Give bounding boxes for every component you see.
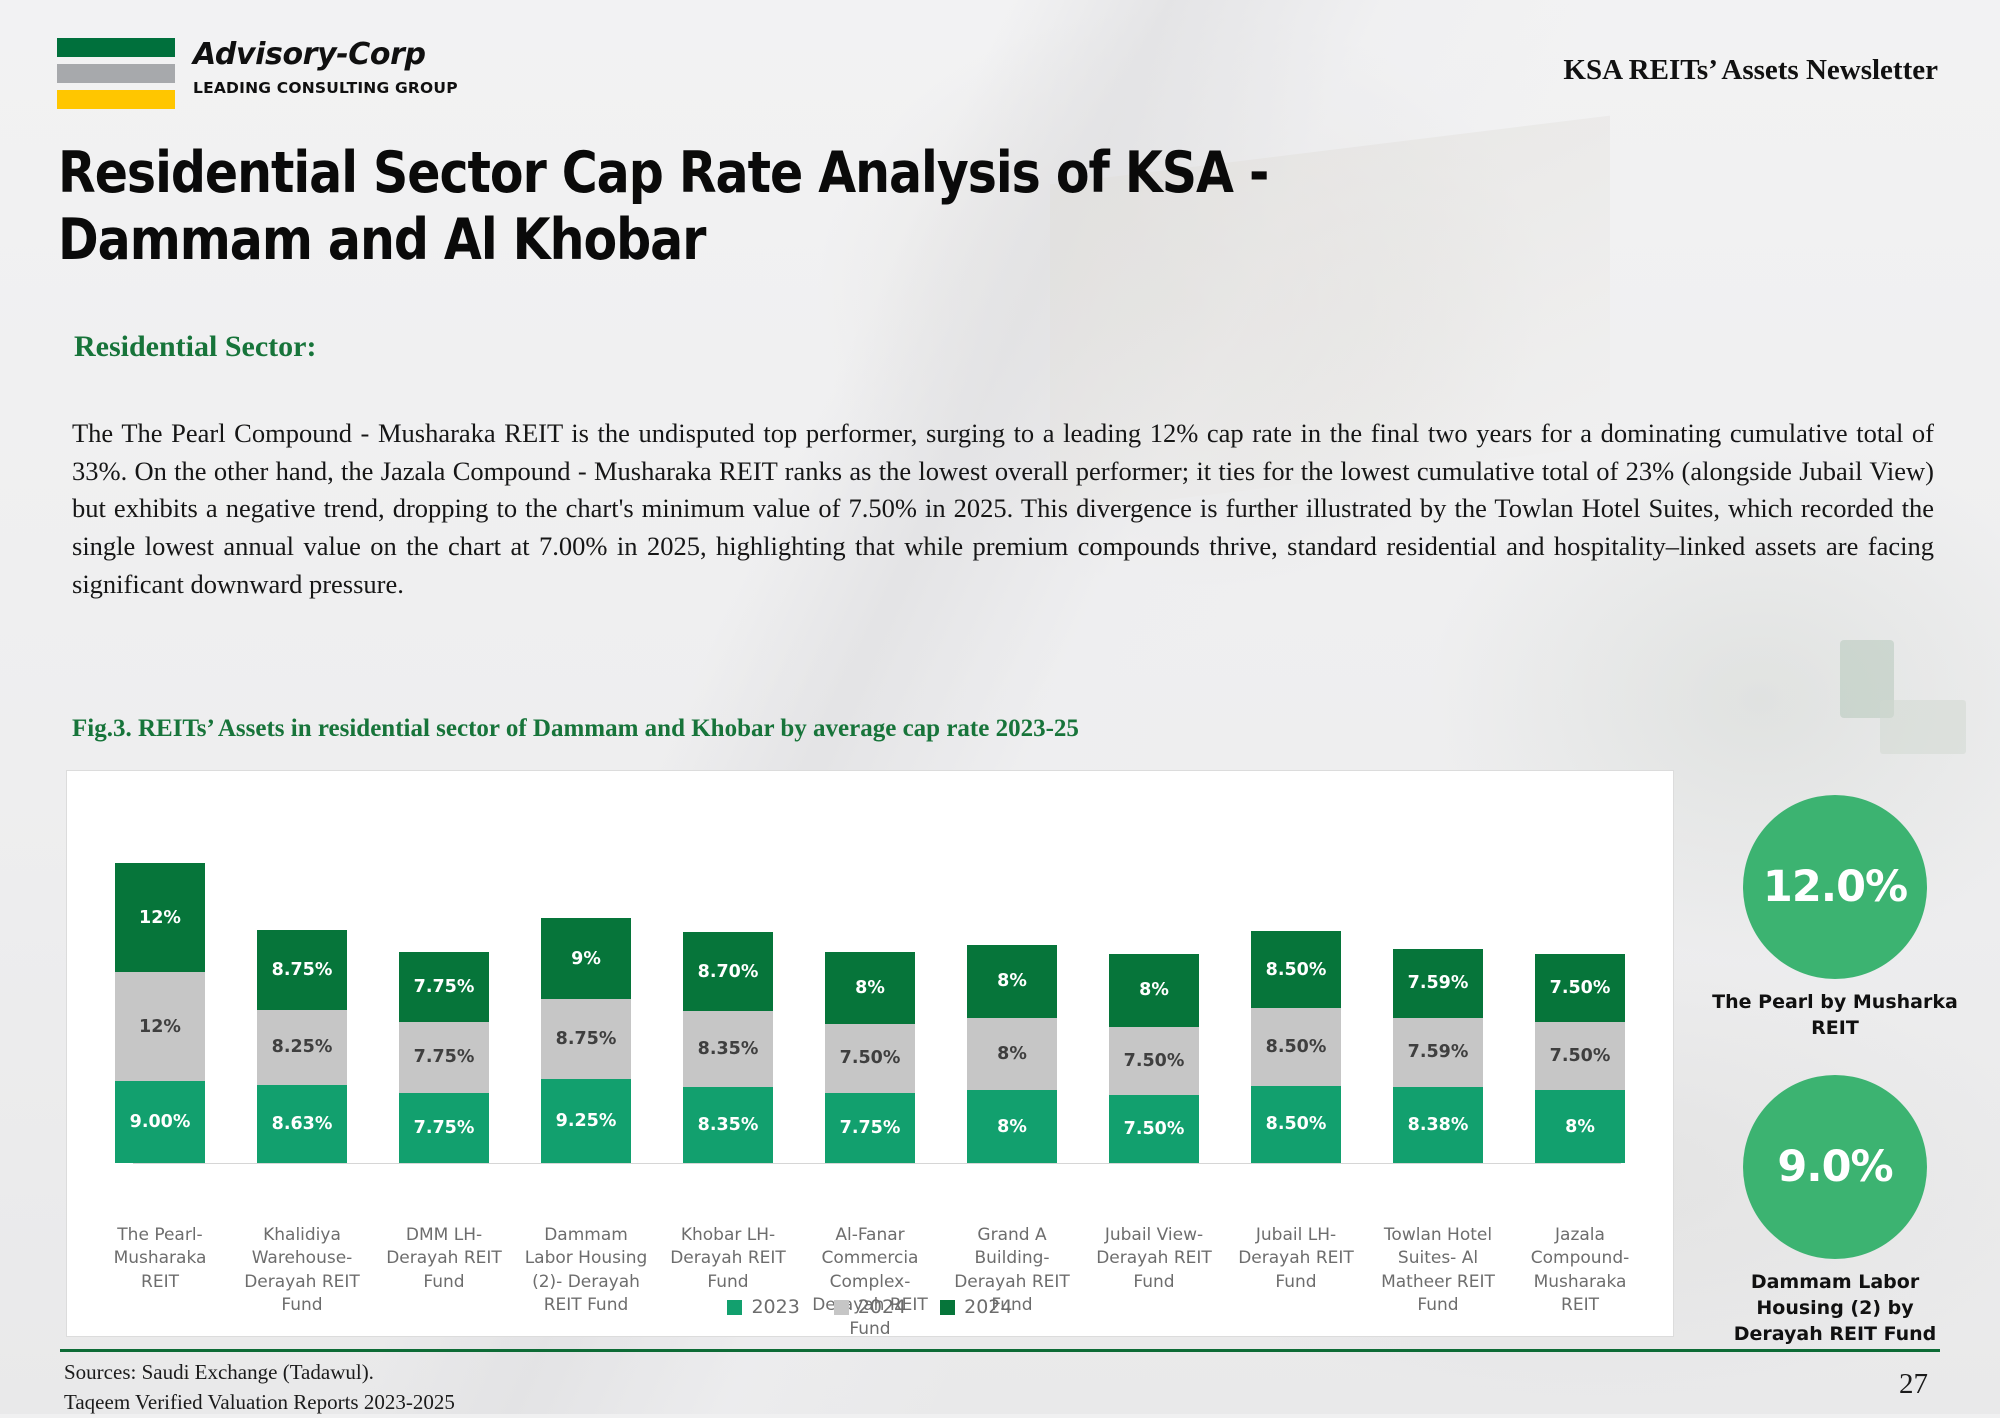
legend-swatch-icon — [940, 1300, 955, 1315]
bar-segment-2023: 7.50% — [1109, 1095, 1199, 1163]
bar-value-label: 7.75% — [840, 1118, 901, 1138]
bar-value-label: 7.50% — [1124, 1119, 1185, 1139]
chart-plot-area: 12%12%9.00%8.75%8.25%8.63%7.75%7.75%7.75… — [89, 791, 1651, 1226]
legend-swatch-icon — [727, 1300, 742, 1315]
company-logo: Advisory-Corp LEADING CONSULTING GROUP — [57, 38, 458, 116]
bar-segment-2023: 8% — [1535, 1090, 1625, 1163]
bar-segment-2024-gray: 7.75% — [399, 1022, 489, 1093]
sources-line-1: Sources: Saudi Exchange (Tadawul). — [64, 1358, 455, 1388]
bar-segment-2024-green: 7.50% — [1535, 954, 1625, 1022]
sources-note: Sources: Saudi Exchange (Tadawul). Taqee… — [64, 1358, 455, 1418]
bar-segment-2024-gray: 8.75% — [541, 999, 631, 1079]
legend-label: 2023 — [751, 1296, 799, 1318]
bar-segment-2024-green: 12% — [115, 863, 205, 972]
bar-value-label: 9.00% — [130, 1112, 191, 1132]
category-label: Towlan Hotel Suites- Al Matheer REIT Fun… — [1367, 1224, 1509, 1341]
bar-segment-2024-gray: 8.35% — [683, 1011, 773, 1087]
bar-group: 8%7.50%7.50% — [1083, 863, 1225, 1163]
category-label: The Pearl- Musharaka REIT — [89, 1224, 231, 1341]
footer-divider — [60, 1349, 1940, 1352]
bar-value-label: 8% — [1565, 1117, 1595, 1137]
figure-caption: Fig.3. REITs’ Assets in residential sect… — [72, 715, 1079, 743]
stacked-bar[interactable]: 7.59%7.59%8.38% — [1393, 949, 1483, 1163]
bar-value-label: 7.75% — [414, 977, 475, 997]
bar-value-label: 8.75% — [556, 1029, 617, 1049]
bar-segment-2024-green: 9% — [541, 918, 631, 1000]
bar-segment-2023: 9.00% — [115, 1081, 205, 1163]
bar-value-label: 8.50% — [1266, 960, 1327, 980]
bar-segment-2023: 7.75% — [399, 1093, 489, 1164]
slide-page: Advisory-Corp LEADING CONSULTING GROUP K… — [0, 0, 2000, 1414]
chart-axis-line — [133, 1163, 1621, 1164]
bar-segment-2024-gray: 8.50% — [1251, 1008, 1341, 1085]
legend-item[interactable]: 2023 — [727, 1296, 799, 1318]
bar-segment-2024-green: 8.70% — [683, 932, 773, 1011]
highlight-badge: 9.0%Dammam Labor Housing (2) by Derayah … — [1700, 1075, 1970, 1347]
sources-line-2: Taqeem Verified Valuation Reports 2023-2… — [64, 1388, 455, 1418]
bar-group: 8%8%8% — [941, 863, 1083, 1163]
bar-segment-2023: 8.50% — [1251, 1086, 1341, 1163]
category-label: DMM LH- Derayah REIT Fund — [373, 1224, 515, 1341]
bar-value-label: 8.75% — [272, 960, 333, 980]
bar-value-label: 8.38% — [1408, 1115, 1469, 1135]
bar-value-label: 7.59% — [1408, 1042, 1469, 1062]
bar-value-label: 8.25% — [272, 1037, 333, 1057]
category-label: Khobar LH- Derayah REIT Fund — [657, 1224, 799, 1341]
bar-segment-2024-gray: 8% — [967, 1018, 1057, 1091]
category-label: Grand A Building- Derayah REIT Fund — [941, 1224, 1083, 1341]
bar-value-label: 8.63% — [272, 1114, 333, 1134]
section-heading: Residential Sector: — [74, 330, 316, 364]
bar-segment-2024-green: 8.50% — [1251, 931, 1341, 1008]
legend-label: 2024 — [858, 1296, 906, 1318]
bar-value-label: 7.59% — [1408, 973, 1469, 993]
logo-bars-icon — [57, 38, 175, 116]
legend-item[interactable]: 2024 — [940, 1296, 1012, 1318]
category-label: Jubail LH- Derayah REIT Fund — [1225, 1224, 1367, 1341]
bar-value-label: 8% — [997, 971, 1027, 991]
bar-value-label: 8% — [997, 1044, 1027, 1064]
bar-value-label: 12% — [139, 908, 181, 928]
bar-segment-2024-gray: 7.50% — [825, 1024, 915, 1092]
bar-segment-2024-green: 8% — [967, 945, 1057, 1018]
bar-segment-2024-green: 7.75% — [399, 952, 489, 1023]
bar-segment-2023: 8.63% — [257, 1085, 347, 1164]
badge-label: The Pearl by Musharka REIT — [1710, 990, 1960, 1041]
stacked-bar[interactable]: 9%8.75%9.25% — [541, 918, 631, 1163]
bar-value-label: 8.50% — [1266, 1037, 1327, 1057]
logo-text-block: Advisory-Corp LEADING CONSULTING GROUP — [193, 38, 458, 97]
bar-segment-2024-gray: 12% — [115, 972, 205, 1081]
stacked-bar[interactable]: 7.75%7.75%7.75% — [399, 952, 489, 1164]
badge-label: Dammam Labor Housing (2) by Derayah REIT… — [1710, 1270, 1960, 1347]
bar-value-label: 8% — [855, 978, 885, 998]
chart-legend: 202320242024 — [67, 1296, 1673, 1318]
logo-bar-gray — [57, 64, 175, 83]
legend-swatch-icon — [834, 1300, 849, 1315]
bar-value-label: 7.75% — [414, 1118, 475, 1138]
category-label: Jazala Compound- Musharaka REIT — [1509, 1224, 1651, 1341]
highlight-badges: 12.0%The Pearl by Musharka REIT9.0%Damma… — [1700, 795, 1970, 1347]
stacked-bar[interactable]: 8.50%8.50%8.50% — [1251, 931, 1341, 1163]
background-sign-secondary-icon — [1880, 700, 1966, 754]
bar-segment-2023: 9.25% — [541, 1079, 631, 1163]
bar-segment-2024-green: 8% — [825, 952, 915, 1025]
bar-group: 12%12%9.00% — [89, 863, 231, 1163]
bar-segment-2024-green: 8.75% — [257, 930, 347, 1010]
logo-bar-yellow — [57, 90, 175, 109]
legend-item[interactable]: 2024 — [834, 1296, 906, 1318]
body-paragraph: The The Pearl Compound - Musharaka REIT … — [72, 415, 1934, 603]
bar-value-label: 7.50% — [840, 1048, 901, 1068]
stacked-bar[interactable]: 12%12%9.00% — [115, 863, 205, 1163]
bar-value-label: 7.50% — [1550, 1046, 1611, 1066]
stacked-bar[interactable]: 7.50%7.50%8% — [1535, 954, 1625, 1163]
bar-segment-2023: 7.75% — [825, 1093, 915, 1164]
bar-segment-2024-green: 7.59% — [1393, 949, 1483, 1018]
bar-segment-2023: 8% — [967, 1090, 1057, 1163]
badge-value-circle: 12.0% — [1743, 795, 1927, 979]
category-label: Khalidiya Warehouse- Derayah REIT Fund — [231, 1224, 373, 1341]
bar-segment-2024-gray: 8.25% — [257, 1010, 347, 1085]
category-label: Al-Fanar Commercia Complex- Derayah REIT… — [799, 1224, 941, 1341]
legend-label: 2024 — [964, 1296, 1012, 1318]
category-label: Jubail View- Derayah REIT Fund — [1083, 1224, 1225, 1341]
bar-value-label: 8.35% — [698, 1039, 759, 1059]
bar-value-label: 7.50% — [1550, 978, 1611, 998]
bar-value-label: 7.75% — [414, 1047, 475, 1067]
category-axis-labels: The Pearl- Musharaka REITKhalidiya Wareh… — [89, 1224, 1651, 1341]
page-header: Advisory-Corp LEADING CONSULTING GROUP K… — [0, 34, 2000, 110]
bar-group: 7.75%7.75%7.75% — [373, 863, 515, 1163]
newsletter-title: KSA REITs’ Assets Newsletter — [1563, 54, 1938, 87]
bar-value-label: 8% — [997, 1117, 1027, 1137]
bar-value-label: 7.50% — [1124, 1051, 1185, 1071]
badge-value-circle: 9.0% — [1743, 1075, 1927, 1259]
highlight-badge: 12.0%The Pearl by Musharka REIT — [1700, 795, 1970, 1041]
stacked-bar[interactable]: 8.75%8.25%8.63% — [257, 930, 347, 1163]
stacked-bar[interactable]: 8%7.50%7.50% — [1109, 954, 1199, 1163]
bar-segment-2023: 8.35% — [683, 1087, 773, 1163]
bar-value-label: 8.70% — [698, 962, 759, 982]
bar-value-label: 12% — [139, 1017, 181, 1037]
bar-segment-2024-green: 8% — [1109, 954, 1199, 1027]
bar-group: 8%7.50%7.75% — [799, 863, 941, 1163]
chart-panel: 12%12%9.00%8.75%8.25%8.63%7.75%7.75%7.75… — [66, 770, 1674, 1337]
bar-group: 7.59%7.59%8.38% — [1367, 863, 1509, 1163]
bar-group: 8.50%8.50%8.50% — [1225, 863, 1367, 1163]
logo-company-name: Advisory-Corp — [193, 40, 458, 70]
bar-segment-2024-gray: 7.59% — [1393, 1018, 1483, 1087]
bar-segment-2024-gray: 7.50% — [1535, 1022, 1625, 1090]
bar-group: 8.75%8.25%8.63% — [231, 863, 373, 1163]
bar-segment-2024-gray: 7.50% — [1109, 1027, 1199, 1095]
bar-series-container: 12%12%9.00%8.75%8.25%8.63%7.75%7.75%7.75… — [89, 863, 1651, 1163]
stacked-bar[interactable]: 8.70%8.35%8.35% — [683, 932, 773, 1163]
page-number: 27 — [1899, 1368, 1928, 1401]
bar-group: 7.50%7.50%8% — [1509, 863, 1651, 1163]
bar-group: 9%8.75%9.25% — [515, 863, 657, 1163]
stacked-bar[interactable]: 8%8%8% — [967, 945, 1057, 1163]
bar-value-label: 8% — [1139, 980, 1169, 1000]
bar-value-label: 9.25% — [556, 1111, 617, 1131]
bar-value-label: 9% — [571, 949, 601, 969]
stacked-bar[interactable]: 8%7.50%7.75% — [825, 952, 915, 1163]
bar-value-label: 8.35% — [698, 1115, 759, 1135]
category-label: Dammam Labor Housing (2)- Derayah REIT F… — [515, 1224, 657, 1341]
page-title: Residential Sector Cap Rate Analysis of … — [58, 140, 1400, 275]
bar-group: 8.70%8.35%8.35% — [657, 863, 799, 1163]
logo-tagline: LEADING CONSULTING GROUP — [193, 79, 458, 97]
logo-bar-green — [57, 38, 175, 57]
bar-segment-2023: 8.38% — [1393, 1087, 1483, 1163]
bar-value-label: 8.50% — [1266, 1114, 1327, 1134]
